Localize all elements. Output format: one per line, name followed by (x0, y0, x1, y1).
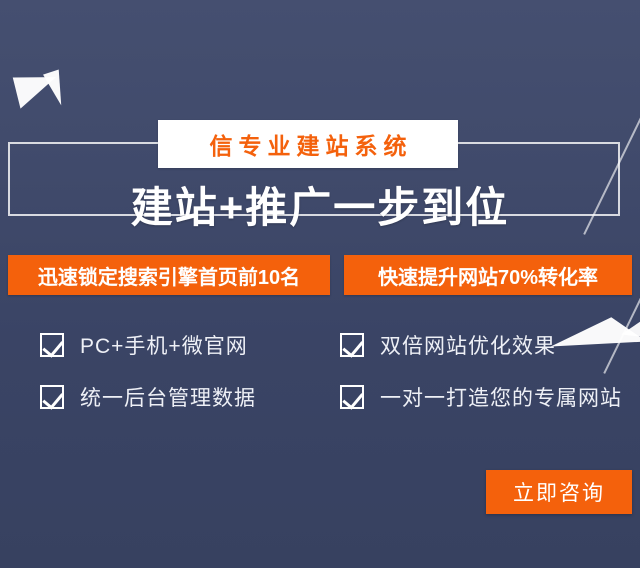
checkbox-checked-icon (40, 385, 64, 409)
consult-now-button[interactable]: 立即咨询 (486, 470, 632, 514)
feature-label: 一对一打造您的专属网站 (380, 382, 622, 412)
feature-label: 统一后台管理数据 (80, 382, 256, 412)
list-item: 双倍网站优化效果 (340, 330, 622, 360)
promo-banner: 信专业建站系统 建站+推广一步到位 迅速锁定搜索引擎首页前10名 快速提升网站7… (0, 0, 640, 568)
feature-list: PC+手机+微官网 双倍网站优化效果 统一后台管理数据 一对一打造您的专属网站 (40, 330, 620, 412)
paper-plane-icon (13, 67, 61, 108)
list-item: 一对一打造您的专属网站 (340, 382, 622, 412)
triangle-small-icon (621, 318, 640, 340)
list-item: 统一后台管理数据 (40, 382, 340, 412)
subtitle-text: 信专业建站系统 (204, 127, 413, 161)
subtitle-plate: 信专业建站系统 (158, 120, 458, 168)
list-item: PC+手机+微官网 (40, 330, 340, 360)
checkbox-checked-icon (340, 385, 364, 409)
checkbox-checked-icon (40, 333, 64, 357)
feature-label: 双倍网站优化效果 (380, 330, 556, 360)
checkbox-checked-icon (340, 333, 364, 357)
status-badge-seo: 迅速锁定搜索引擎首页前10名 (8, 255, 330, 295)
status-badge-conversion: 快速提升网站70%转化率 (344, 255, 632, 295)
page-title: 建站+推广一步到位 (131, 187, 510, 229)
paper-plane-wing-icon (43, 69, 61, 106)
feature-label: PC+手机+微官网 (80, 330, 248, 360)
badge-row: 迅速锁定搜索引擎首页前10名 快速提升网站70%转化率 (8, 255, 632, 295)
headline-row: 建站+推广一步到位 (0, 180, 640, 236)
